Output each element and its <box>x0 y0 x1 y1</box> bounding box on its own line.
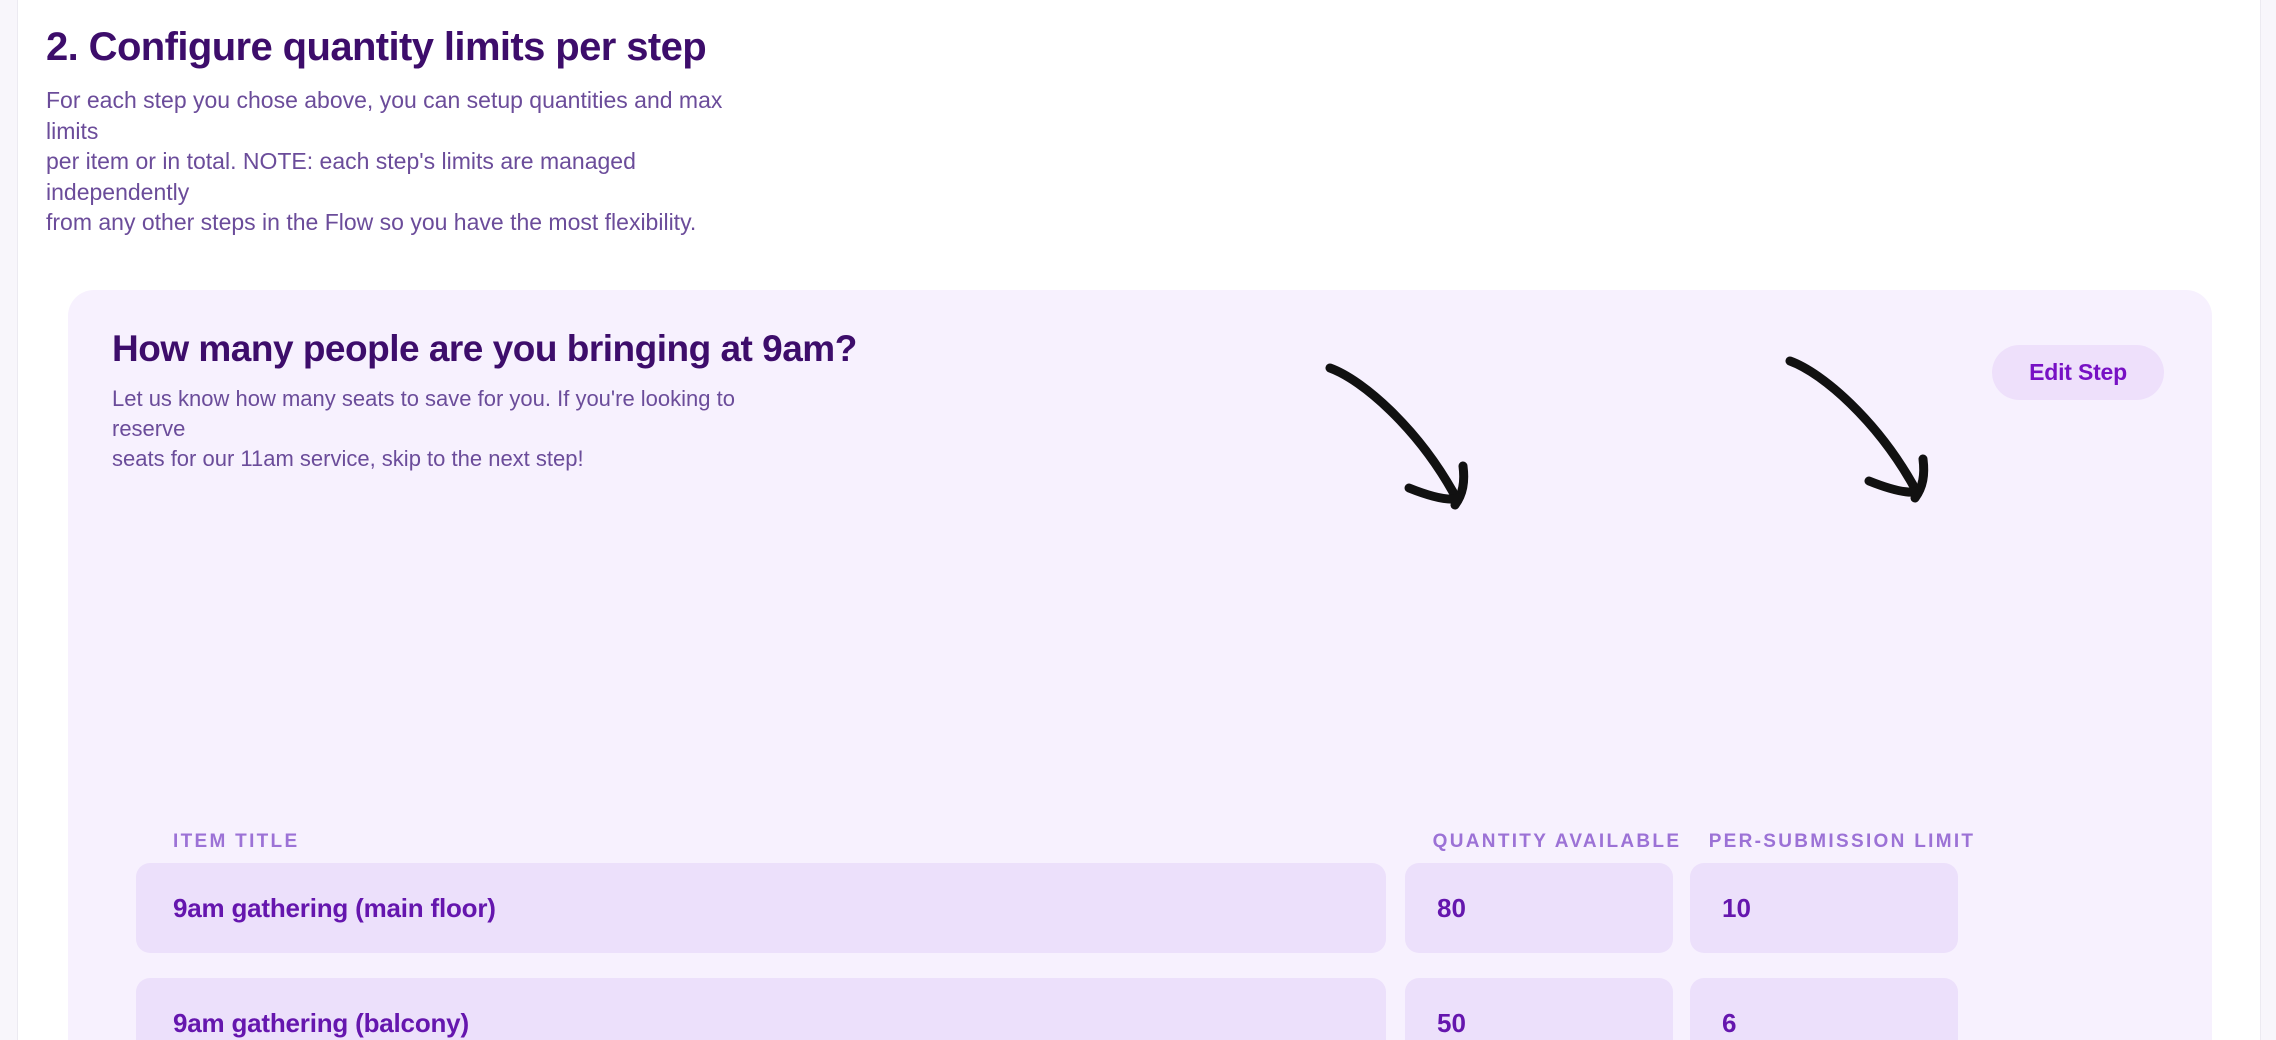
edit-step-button[interactable]: Edit Step <box>1992 345 2164 400</box>
step-card-header: How many people are you bringing at 9am?… <box>68 290 2212 474</box>
section-description-line-3: from any other steps in the Flow so you … <box>46 207 736 238</box>
section-description: For each step you chose above, you can s… <box>46 72 736 238</box>
column-header-quantity-available: QUANTITY AVAILABLE <box>1423 831 1691 853</box>
section-header: 2. Configure quantity limits per step Fo… <box>46 0 2212 238</box>
item-title-field[interactable]: 9am gathering (balcony) <box>136 978 1386 1040</box>
step-subtitle-line-2: seats for our 11am service, skip to the … <box>112 444 772 474</box>
column-header-per-submission-limit: PER-SUBMISSION LIMIT <box>1708 831 1976 853</box>
section-description-line-2: per item or in total. NOTE: each step's … <box>46 146 736 207</box>
step-subtitle-line-1: Let us know how many seats to save for y… <box>112 384 772 444</box>
right-page-gutter <box>2260 0 2276 1040</box>
left-page-gutter <box>0 0 18 1040</box>
quantity-available-field[interactable]: 80 <box>1405 863 1673 953</box>
edit-step-button-wrapper: Edit Step <box>1934 346 2164 402</box>
quantity-available-field[interactable]: 50 <box>1405 978 1673 1040</box>
step-subtitle: Let us know how many seats to save for y… <box>112 372 772 474</box>
step-card: How many people are you bringing at 9am?… <box>68 290 2212 1040</box>
column-header-item-title: ITEM TITLE <box>136 831 1423 853</box>
table-header-row: ITEM TITLE QUANTITY AVAILABLE PER-SUBMIS… <box>136 807 2212 863</box>
per-submission-limit-field[interactable]: 6 <box>1690 978 1958 1040</box>
section-description-line-1: For each step you chose above, you can s… <box>46 85 736 146</box>
table-row: 9am gathering (main floor) 80 10 <box>136 863 2212 953</box>
item-title-field[interactable]: 9am gathering (main floor) <box>136 863 1386 953</box>
quantity-limits-table: ITEM TITLE QUANTITY AVAILABLE PER-SUBMIS… <box>136 807 2212 1040</box>
table-row: 9am gathering (balcony) 50 6 <box>136 978 2212 1040</box>
step-title: How many people are you bringing at 9am? <box>112 326 2168 372</box>
per-submission-limit-field[interactable]: 10 <box>1690 863 1958 953</box>
page-title: 2. Configure quantity limits per step <box>46 0 2212 72</box>
page-root: 2. Configure quantity limits per step Fo… <box>0 0 2276 1040</box>
